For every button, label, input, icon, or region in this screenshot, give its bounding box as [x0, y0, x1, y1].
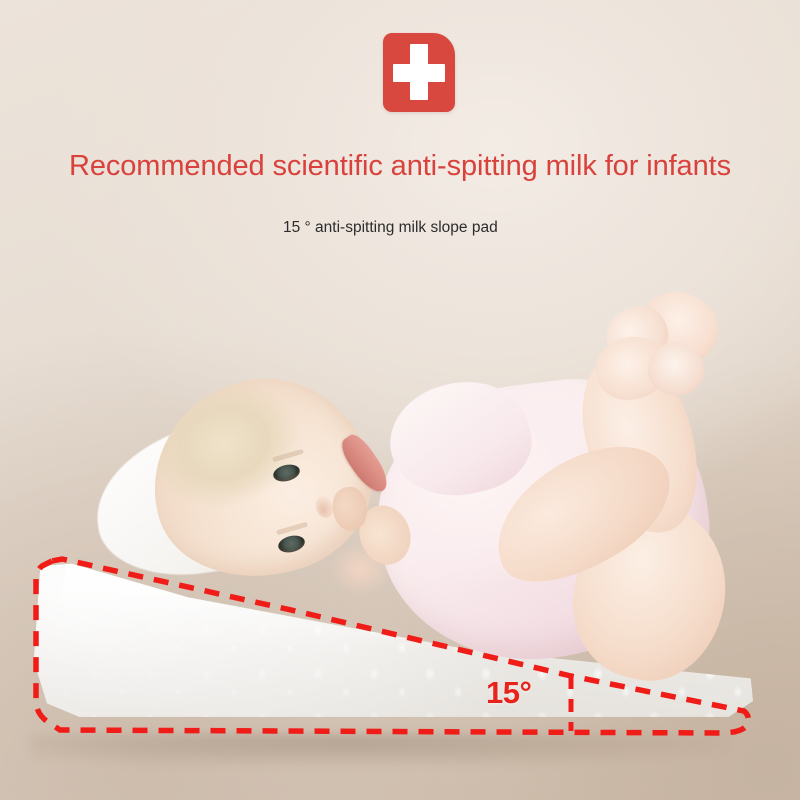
cross-horizontal-bar — [393, 64, 445, 82]
medical-cross-icon — [383, 33, 455, 112]
angle-label: 15° — [486, 675, 531, 711]
product-promo-image: Recommended scientific anti-spitting mil… — [0, 0, 800, 800]
subtitle-text: 15 ° anti-spitting milk slope pad — [283, 218, 505, 237]
infant-figure — [0, 255, 800, 800]
product-photo-scene — [0, 255, 800, 800]
headline-text: Recommended scientific anti-spitting mil… — [0, 148, 800, 184]
infant-cheek — [330, 543, 392, 595]
